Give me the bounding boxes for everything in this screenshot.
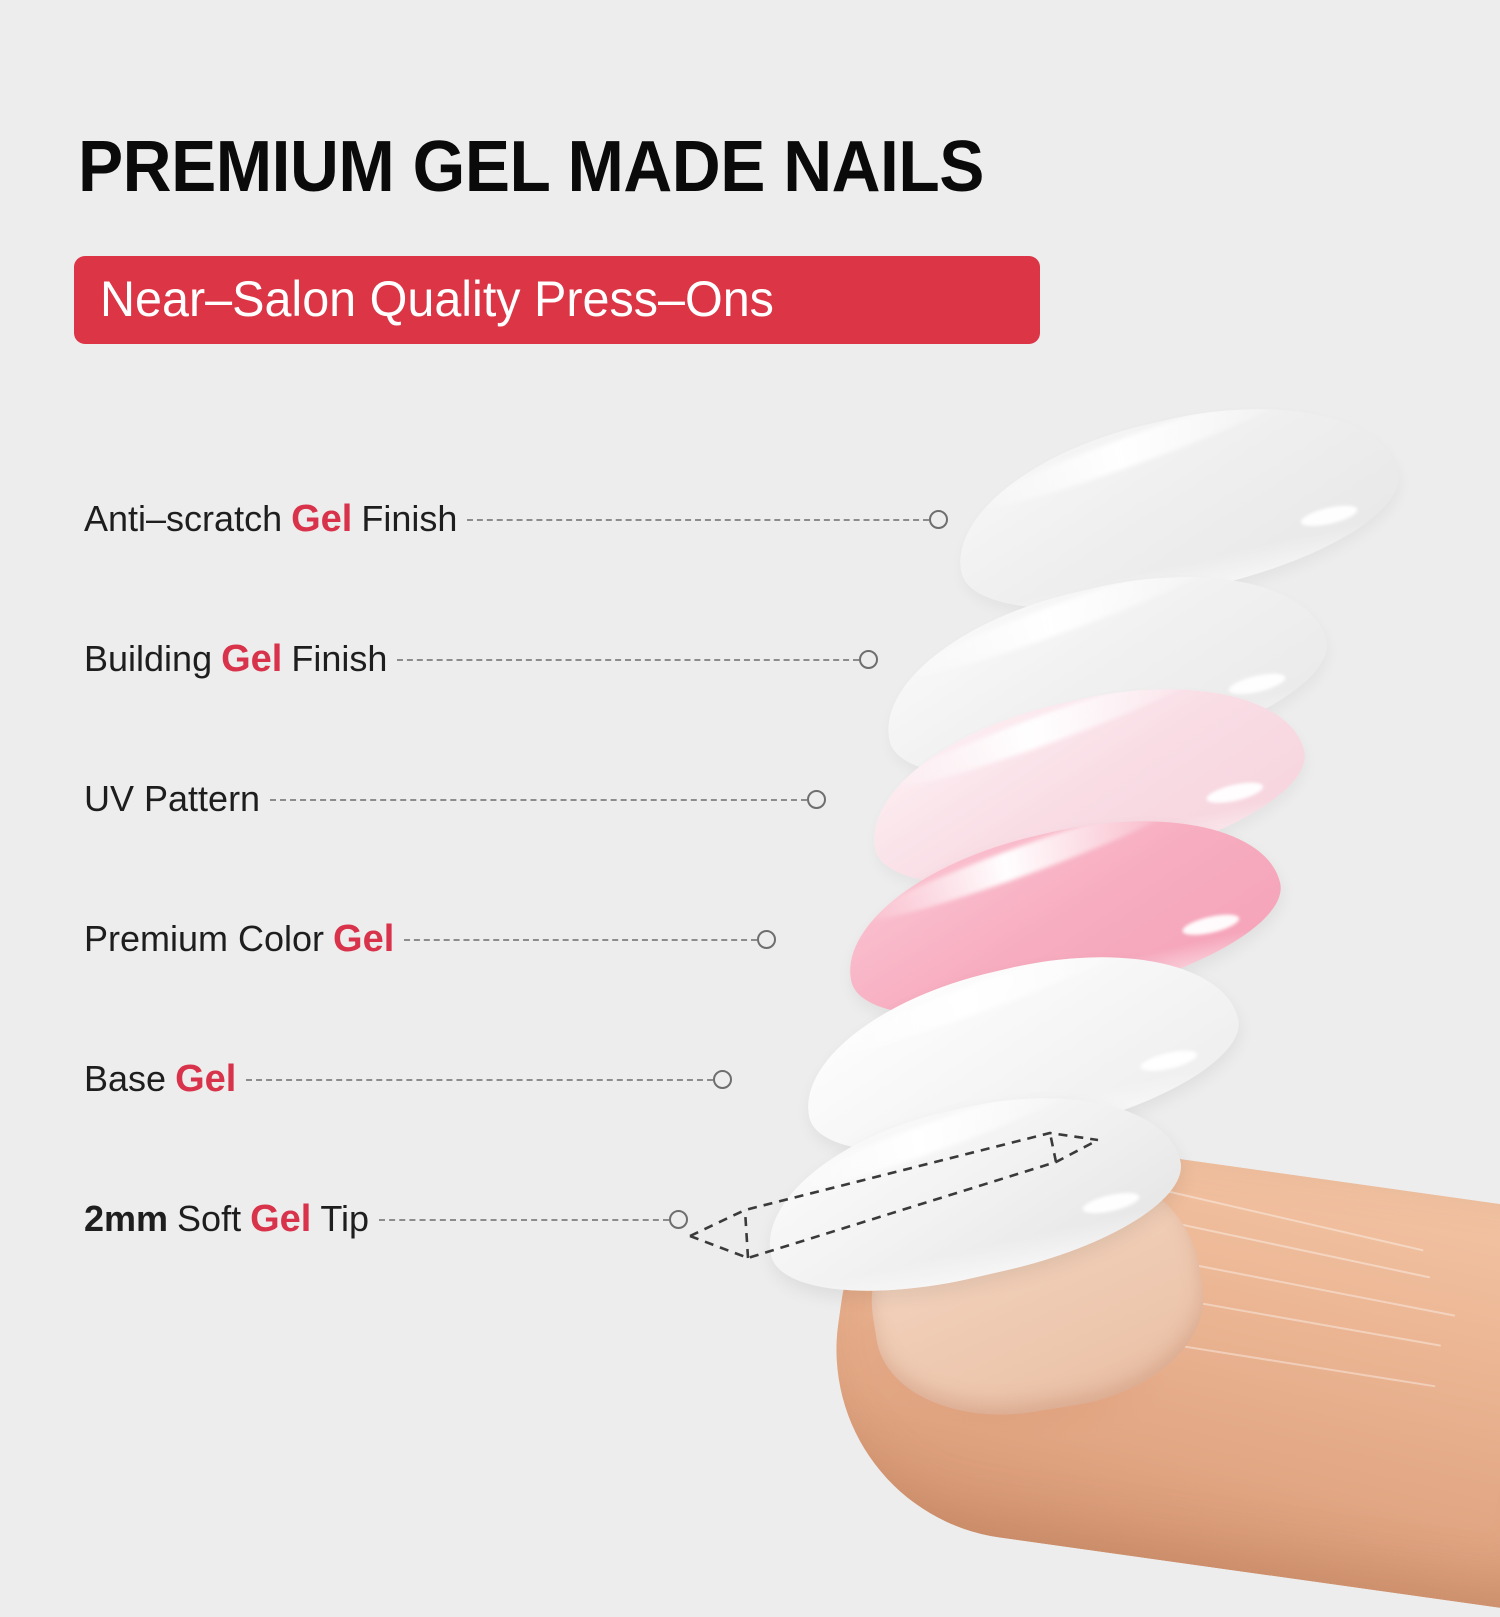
callout-word: Gel	[250, 1198, 311, 1241]
callout-word: Finish	[291, 638, 387, 680]
leader-line-building-gel-finish	[397, 659, 859, 663]
callout-word: Gel	[333, 918, 394, 961]
leader-endpoint-uv-pattern	[807, 790, 826, 809]
callout-row-base-gel: BaseGel	[84, 1056, 236, 1102]
callout-label-building-gel-finish: BuildingGelFinish	[84, 638, 387, 681]
callout-word: Tip	[320, 1198, 369, 1240]
callout-word: Building	[84, 638, 212, 680]
callout-word: Gel	[175, 1058, 236, 1101]
callout-word: Soft	[177, 1198, 241, 1240]
callout-label-premium-color-gel: Premium ColorGel	[84, 918, 394, 961]
callout-row-building-gel-finish: BuildingGelFinish	[84, 636, 387, 682]
leader-endpoint-base-gel	[713, 1070, 732, 1089]
leader-line-anti-scratch-gel-finish	[467, 519, 929, 523]
callout-row-anti-scratch-gel-finish: Anti–scratchGelFinish	[84, 496, 457, 542]
leader-line-soft-gel-tip	[379, 1219, 669, 1223]
callout-word: Gel	[221, 638, 282, 681]
leader-line-premium-color-gel	[404, 939, 757, 943]
callout-word: Finish	[361, 498, 457, 540]
callout-word: Premium Color	[84, 918, 324, 960]
leader-endpoint-soft-gel-tip	[669, 1210, 688, 1229]
callout-word: UV Pattern	[84, 778, 260, 820]
callout-label-base-gel: BaseGel	[84, 1058, 236, 1101]
leader-line-base-gel	[246, 1079, 713, 1083]
callout-row-premium-color-gel: Premium ColorGel	[84, 916, 394, 962]
leader-line-uv-pattern	[270, 799, 807, 803]
layer-callout-list: Anti–scratchGelFinishBuildingGelFinishUV…	[0, 0, 1500, 1500]
callout-label-uv-pattern: UV Pattern	[84, 778, 260, 820]
callout-word: Gel	[291, 498, 352, 541]
product-infographic: PREMIUM GEL MADE NAILS Near–Salon Qualit…	[0, 0, 1500, 1500]
callout-row-uv-pattern: UV Pattern	[84, 776, 260, 822]
callout-word: 2mm	[84, 1198, 168, 1240]
callout-word: Anti–scratch	[84, 498, 282, 540]
leader-endpoint-building-gel-finish	[859, 650, 878, 669]
callout-row-soft-gel-tip: 2mmSoftGelTip	[84, 1196, 369, 1242]
leader-endpoint-premium-color-gel	[757, 930, 776, 949]
leader-endpoint-anti-scratch-gel-finish	[929, 510, 948, 529]
callout-label-anti-scratch-gel-finish: Anti–scratchGelFinish	[84, 498, 457, 541]
callout-word: Base	[84, 1058, 166, 1100]
callout-label-soft-gel-tip: 2mmSoftGelTip	[84, 1198, 369, 1241]
